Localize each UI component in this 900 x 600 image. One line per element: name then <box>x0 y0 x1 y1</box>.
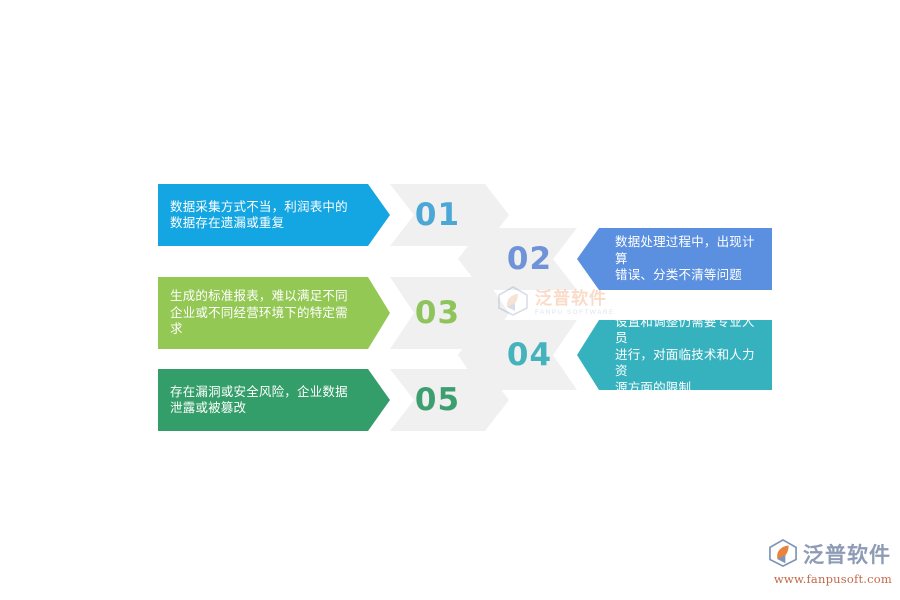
item-02-panel: 数据处理过程中，出现计算 错误、分类不清等问题 <box>599 228 772 290</box>
infographic-canvas: 数据采集方式不当，利润表中的 数据存在遗漏或重复 01 02 数据处理过程中，出… <box>0 0 900 600</box>
infographic-item-04: 04 设置和调整仍需要专业人员 进行，对面临技术和人力资 源方面的限制 <box>482 320 772 390</box>
item-02-text: 数据处理过程中，出现计算 错误、分类不清等问题 <box>615 234 760 284</box>
item-02-number: 02 <box>507 241 552 277</box>
item-05-text: 存在漏洞或安全风险，企业数据 泄露或被篡改 <box>170 384 348 417</box>
item-01-text: 数据采集方式不当，利润表中的 数据存在遗漏或重复 <box>170 199 348 232</box>
watermark-words: 泛普软件 FANPU SOFTWARE <box>535 290 615 317</box>
item-05-number-plate: 05 <box>390 369 485 431</box>
item-04-panel: 设置和调整仍需要专业人员 进行，对面临技术和人力资 源方面的限制 <box>599 320 772 390</box>
watermark-brand-cn: 泛普软件 <box>535 290 615 307</box>
item-03-number: 03 <box>415 295 460 331</box>
item-05-number: 05 <box>415 382 460 418</box>
item-01-number: 01 <box>415 197 460 233</box>
infographic-item-03: 生成的标准报表，难以满足不同 企业或不同经营环境下的特定需 求 03 <box>158 277 485 349</box>
brand-name-cn: 泛普软件 <box>803 545 891 566</box>
item-04-text: 设置和调整仍需要专业人员 进行，对面临技术和人力资 源方面的限制 <box>615 314 760 397</box>
item-05-panel: 存在漏洞或安全风险，企业数据 泄露或被篡改 <box>158 369 368 431</box>
brand-logo: 泛普软件 www.fanpusoft.com <box>768 540 892 592</box>
brand-url: www.fanpusoft.com <box>768 572 892 586</box>
infographic-item-05: 存在漏洞或安全风险，企业数据 泄露或被篡改 05 <box>158 369 485 431</box>
infographic-item-02: 02 数据处理过程中，出现计算 错误、分类不清等问题 <box>482 228 772 290</box>
fanpu-brand-icon <box>768 539 798 572</box>
brand-logo-row: 泛普软件 <box>768 540 892 570</box>
item-03-panel: 生成的标准报表，难以满足不同 企业或不同经营环境下的特定需 求 <box>158 277 368 349</box>
watermark-brand-en: FANPU SOFTWARE <box>535 310 615 317</box>
item-04-number: 04 <box>507 337 552 373</box>
item-03-text: 生成的标准报表，难以满足不同 企业或不同经营环境下的特定需 求 <box>170 288 348 338</box>
item-01-panel: 数据采集方式不当，利润表中的 数据存在遗漏或重复 <box>158 184 368 246</box>
infographic-item-01: 数据采集方式不当，利润表中的 数据存在遗漏或重复 01 <box>158 184 485 246</box>
